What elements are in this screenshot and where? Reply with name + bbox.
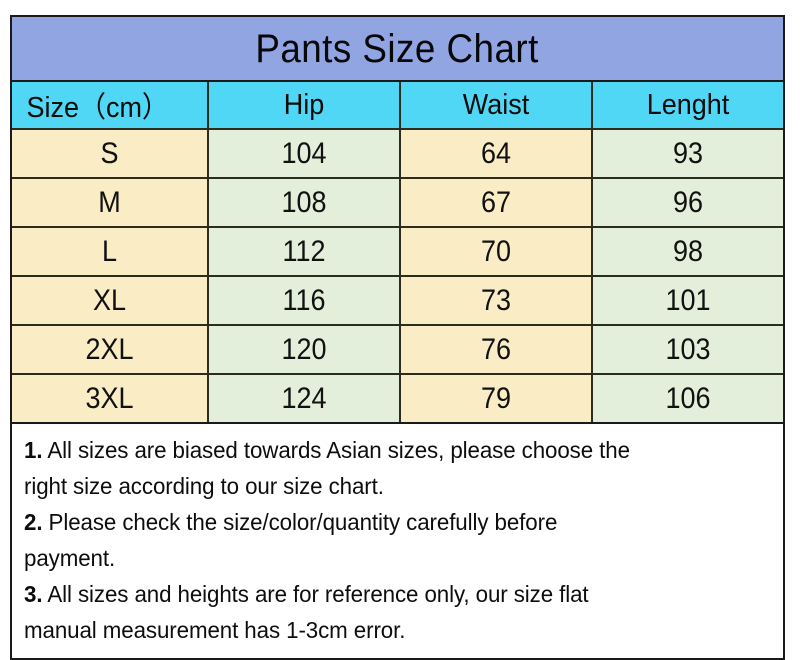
note-3-line-1: 3. All sizes and heights are for referen… bbox=[24, 576, 734, 612]
cell-length: 93 bbox=[592, 129, 783, 178]
cell-size: M bbox=[12, 178, 208, 227]
cell-waist: 73 bbox=[400, 276, 592, 325]
size-table-header: Size（cm） Hip Waist Lenght bbox=[12, 82, 783, 129]
cell-hip: 112 bbox=[208, 227, 400, 276]
cell-hip: 124 bbox=[208, 374, 400, 423]
note-2-line-1: 2. Please check the size/color/quantity … bbox=[24, 504, 734, 540]
notes-section: 1. All sizes are biased towards Asian si… bbox=[12, 424, 783, 658]
column-header-hip: Hip bbox=[208, 82, 400, 129]
column-header-waist: Waist bbox=[400, 82, 592, 129]
table-row: S 104 64 93 bbox=[12, 129, 783, 178]
note-3-text-line-1: All sizes and heights are for reference … bbox=[47, 581, 588, 607]
note-3-line-2: manual measurement has 1-3cm error. bbox=[24, 612, 734, 648]
table-header-row: Size（cm） Hip Waist Lenght bbox=[12, 82, 783, 129]
column-header-length: Lenght bbox=[592, 82, 783, 129]
size-chart-card: Pants Size Chart Size（cm） Hip bbox=[10, 15, 785, 660]
cell-waist: 79 bbox=[400, 374, 592, 423]
note-1-number: 1. bbox=[24, 437, 42, 463]
note-2-line-2: payment. bbox=[24, 540, 734, 576]
cell-waist: 70 bbox=[400, 227, 592, 276]
cell-length: 103 bbox=[592, 325, 783, 374]
note-2-text-line-1: Please check the size/color/quantity car… bbox=[49, 509, 558, 535]
cell-size: S bbox=[12, 129, 208, 178]
cell-size: L bbox=[12, 227, 208, 276]
table-row: L 112 70 98 bbox=[12, 227, 783, 276]
size-table-body: S 104 64 93 M 108 67 96 L 112 70 98 bbox=[12, 129, 783, 423]
cell-waist: 76 bbox=[400, 325, 592, 374]
cell-hip: 120 bbox=[208, 325, 400, 374]
cell-hip: 104 bbox=[208, 129, 400, 178]
chart-title-banner: Pants Size Chart bbox=[12, 17, 783, 82]
cell-waist: 67 bbox=[400, 178, 592, 227]
column-header-size: Size（cm） bbox=[12, 82, 208, 129]
cell-size: XL bbox=[12, 276, 208, 325]
cell-waist: 64 bbox=[400, 129, 592, 178]
cell-length: 101 bbox=[592, 276, 783, 325]
cell-size: 2XL bbox=[12, 325, 208, 374]
size-chart-page: Pants Size Chart Size（cm） Hip bbox=[0, 0, 800, 650]
cell-length: 106 bbox=[592, 374, 783, 423]
note-2-number: 2. bbox=[24, 509, 42, 535]
note-1-line-2: right size according to our size chart. bbox=[24, 468, 734, 504]
table-row: 3XL 124 79 106 bbox=[12, 374, 783, 423]
table-row: M 108 67 96 bbox=[12, 178, 783, 227]
size-table: Size（cm） Hip Waist Lenght S 104 bbox=[12, 82, 783, 424]
table-row: XL 116 73 101 bbox=[12, 276, 783, 325]
note-3-number: 3. bbox=[24, 581, 42, 607]
note-1-line-1: 1. All sizes are biased towards Asian si… bbox=[24, 432, 734, 468]
page-title: Pants Size Chart bbox=[256, 29, 539, 69]
cell-length: 98 bbox=[592, 227, 783, 276]
table-row: 2XL 120 76 103 bbox=[12, 325, 783, 374]
note-3-text-line-2: manual measurement has 1-3cm error. bbox=[24, 617, 405, 643]
note-1-text-line-1: All sizes are biased towards Asian sizes… bbox=[47, 437, 630, 463]
cell-length: 96 bbox=[592, 178, 783, 227]
cell-hip: 116 bbox=[208, 276, 400, 325]
cell-size: 3XL bbox=[12, 374, 208, 423]
cell-hip: 108 bbox=[208, 178, 400, 227]
note-1-text-line-2: right size according to our size chart. bbox=[24, 473, 384, 499]
note-2-text-line-2: payment. bbox=[24, 545, 115, 571]
